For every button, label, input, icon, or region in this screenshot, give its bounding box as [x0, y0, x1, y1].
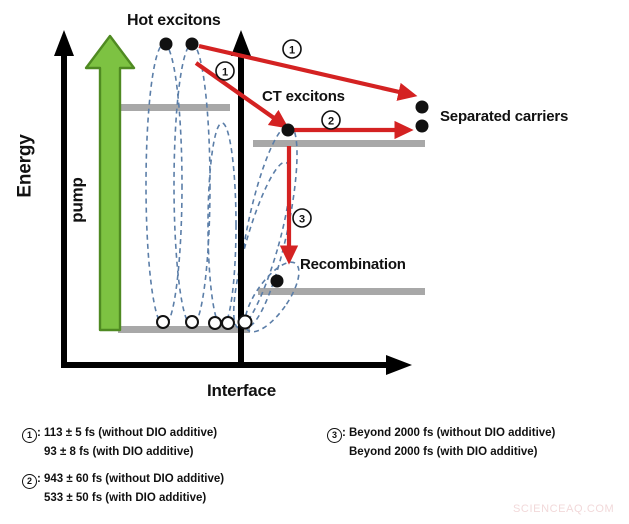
hole-4	[222, 317, 234, 329]
hot-electron-2-dot	[186, 38, 199, 51]
label-separated-carriers: Separated carriers	[440, 108, 568, 125]
legend-item-2-key: 2:	[22, 470, 44, 489]
legend-item-1-text2: 93 ± 8 fs (with DIO additive)	[44, 446, 193, 458]
legend-item-3-text2: Beyond 2000 fs (with DIO additive)	[349, 446, 538, 458]
ct-electron-dot	[282, 124, 295, 137]
legend-item-3-text1: Beyond 2000 fs (without DIO additive)	[349, 427, 555, 439]
energy-level-bars	[118, 104, 425, 333]
legend-item-2-line2: 533 ± 50 fs (with DIO additive)	[22, 489, 224, 507]
legend-item-1-line2: 93 ± 8 fs (with DIO additive)	[22, 443, 217, 461]
legend-item-2-line1: 2:943 ± 60 fs (without DIO additive)	[22, 470, 224, 489]
svg-text:1: 1	[222, 67, 228, 79]
pump-arrow	[86, 36, 134, 330]
legend-item-2-text1: 943 ± 60 fs (without DIO additive)	[44, 473, 224, 485]
hot-electron-1-dot	[160, 38, 173, 51]
legend-item-2: 2:943 ± 60 fs (without DIO additive) 533…	[22, 470, 224, 507]
hole-5	[239, 316, 252, 329]
separated-electron-upper-dot	[416, 101, 429, 114]
energy-axis-arrowhead	[54, 30, 74, 56]
recombination-electron-dot	[271, 275, 284, 288]
hole-1	[157, 316, 169, 328]
legend-item-3-line2: Beyond 2000 fs (with DIO additive)	[327, 443, 555, 461]
legend-item-3-key: 3:	[327, 424, 349, 443]
legend-item-3-line1: 3:Beyond 2000 fs (without DIO additive)	[327, 424, 555, 443]
hole-3	[209, 317, 221, 329]
circled-number-1: 1	[22, 428, 37, 443]
label-ct-excitons: CT excitons	[262, 88, 345, 105]
donor-lumo-bar	[118, 104, 230, 111]
label-recombination: Recombination	[300, 256, 406, 273]
horizontal-axis-arrowhead	[386, 355, 412, 375]
figure-canvas: 1 1 2 3	[0, 0, 629, 524]
label-hot-excitons: Hot excitons	[127, 12, 221, 30]
legend-item-1-line1: 1:113 ± 5 fs (without DIO additive)	[22, 424, 217, 443]
legend-item-2-text2: 533 ± 50 fs (with DIO additive)	[44, 492, 206, 504]
watermark-scienceaq: SCIENCEAQ.COM	[513, 503, 614, 515]
hot-exciton-ellipse-3	[208, 123, 236, 327]
hole-2	[186, 316, 198, 328]
electrons	[160, 38, 429, 288]
label-energy-axis: Energy	[15, 134, 37, 197]
label-pump-arrow: pump	[68, 177, 88, 222]
process-marker-3: 3	[293, 209, 311, 227]
acceptor-homo-bar	[258, 288, 425, 295]
process-marker-2: 2	[322, 111, 340, 129]
svg-text:3: 3	[299, 214, 305, 226]
legend-item-1-text1: 113 ± 5 fs (without DIO additive)	[44, 427, 217, 439]
svg-text:1: 1	[289, 45, 295, 57]
label-interface: Interface	[207, 381, 276, 401]
circled-number-3: 3	[327, 428, 342, 443]
separated-electron-lower-dot	[416, 120, 429, 133]
process-marker-1b: 1	[216, 62, 234, 80]
legend-item-1: 1:113 ± 5 fs (without DIO additive) 93 ±…	[22, 424, 217, 461]
legend-item-3: 3:Beyond 2000 fs (without DIO additive) …	[327, 424, 555, 461]
hot-exciton-ellipse-1	[146, 44, 182, 326]
svg-text:2: 2	[328, 116, 334, 128]
legend-item-1-key: 1:	[22, 424, 44, 443]
acceptor-lumo-bar	[253, 140, 425, 147]
hot-exciton-ellipse-2	[174, 44, 210, 326]
process-marker-1a: 1	[283, 40, 301, 58]
circled-number-2: 2	[22, 474, 37, 489]
